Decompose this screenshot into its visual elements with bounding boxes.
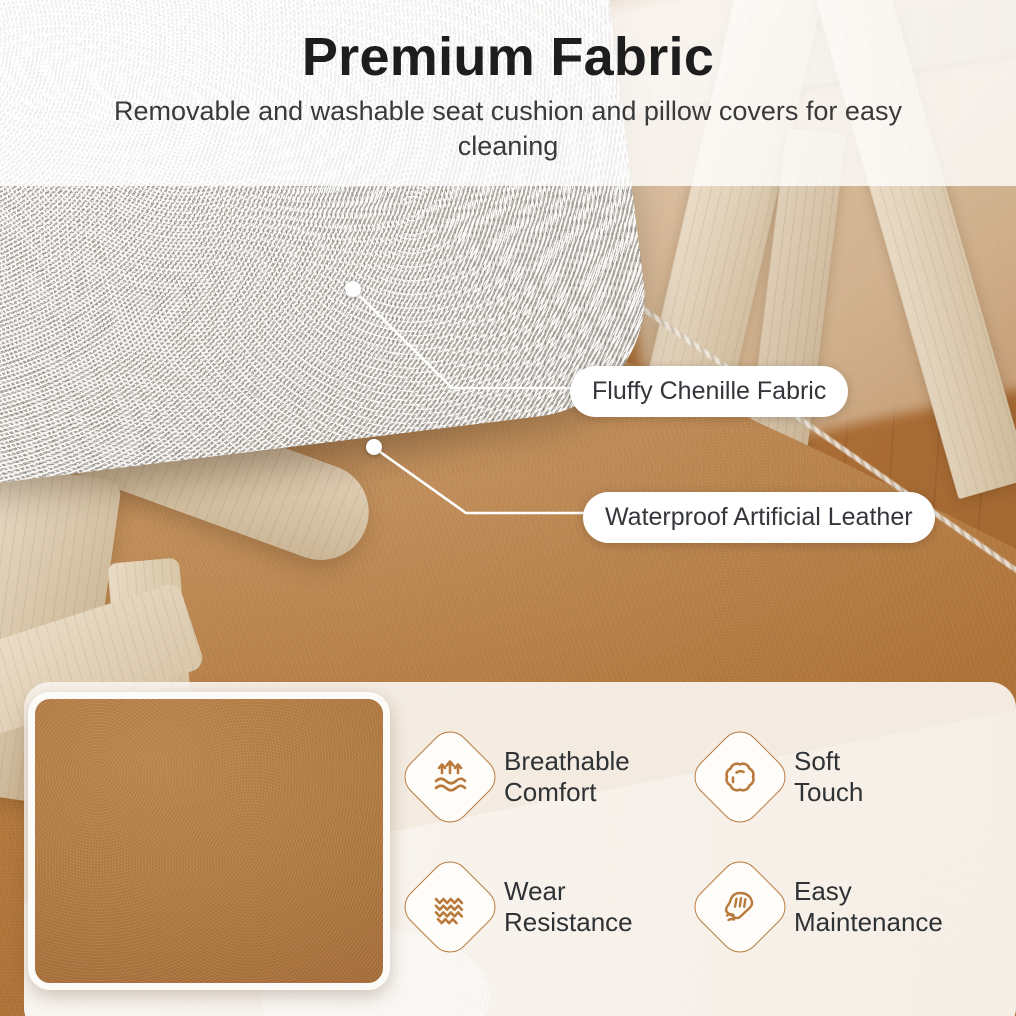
feature-wear-resistance: Wear Resistance [412,842,692,972]
feature-breathable: Breathable Comfort [412,712,692,842]
product-feature-image: Premium Fabric Removable and washable se… [0,0,1016,1016]
header-banner: Premium Fabric Removable and washable se… [0,0,1016,186]
page-title: Premium Fabric [302,30,714,84]
feature-easy-maintenance: Easy Maintenance [702,842,982,972]
leather-swatch [28,692,390,990]
page-subtitle: Removable and washable seat cushion and … [108,94,908,164]
feature-label: Soft Touch [794,746,863,808]
feature-label: Easy Maintenance [794,876,943,938]
feature-soft-touch: Soft Touch [702,712,982,842]
callout-leather: Waterproof Artificial Leather [583,492,935,543]
easy-maintenance-icon [686,853,793,960]
soft-touch-icon [686,723,793,830]
wear-resistance-icon [396,853,503,960]
callout-dot-chenille [345,281,361,297]
feature-label: Wear Resistance [504,876,633,938]
breathable-icon [396,723,503,830]
callout-chenille: Fluffy Chenille Fabric [570,366,848,417]
feature-list: Breathable Comfort Soft Touch [412,712,1012,1002]
feature-label: Breathable Comfort [504,746,630,808]
callout-dot-leather [366,439,382,455]
